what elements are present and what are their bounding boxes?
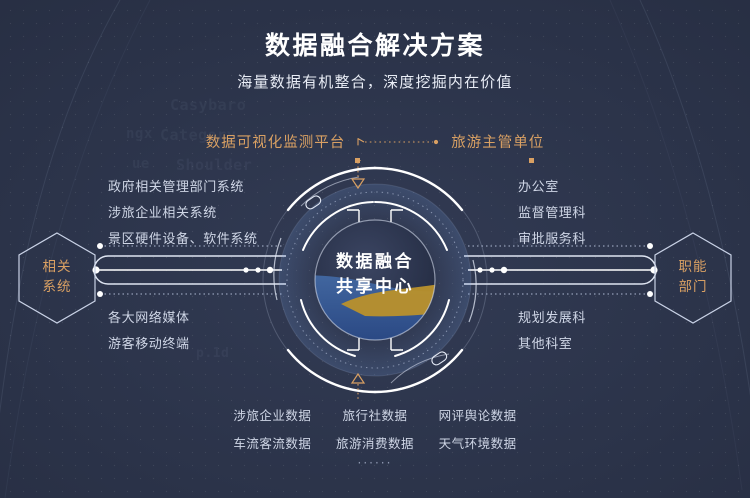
grid-item: 天气环境数据 — [430, 432, 525, 456]
watermark-text: Casybaro — [170, 96, 246, 114]
grid-item: 旅行社数据 — [328, 404, 423, 428]
grid-item: 涉旅企业数据 — [225, 404, 320, 428]
bottom-up-arrow-icon — [352, 374, 364, 400]
visualization-platform-label: 数据可视化监测平台 — [206, 131, 346, 152]
top-down-arrow-icon — [352, 160, 364, 188]
infographic-canvas: Casybaro Category Shoulder ngx ue p.1d P… — [0, 0, 750, 498]
page-title: 数据融合解决方案 — [0, 26, 750, 62]
page-subtitle: 海量数据有机整合，深度挖掘内在价值 — [0, 71, 750, 92]
tourism-authority-label: 旅游主管单位 — [451, 131, 544, 152]
grid-item: 旅游消费数据 — [328, 432, 423, 456]
grid-item: 车流客流数据 — [225, 432, 320, 456]
bottom-ellipsis: ······ — [0, 456, 750, 470]
vertical-arrow-layer — [0, 160, 750, 400]
dotted-left-arrow-icon — [355, 136, 441, 148]
grid-item: 网评舆论数据 — [430, 404, 525, 428]
bottom-data-grid: 涉旅企业数据 旅行社数据 网评舆论数据 车流客流数据 旅游消费数据 天气环境数据 — [225, 404, 525, 456]
top-flow-row: 数据可视化监测平台 旅游主管单位 — [0, 131, 750, 152]
